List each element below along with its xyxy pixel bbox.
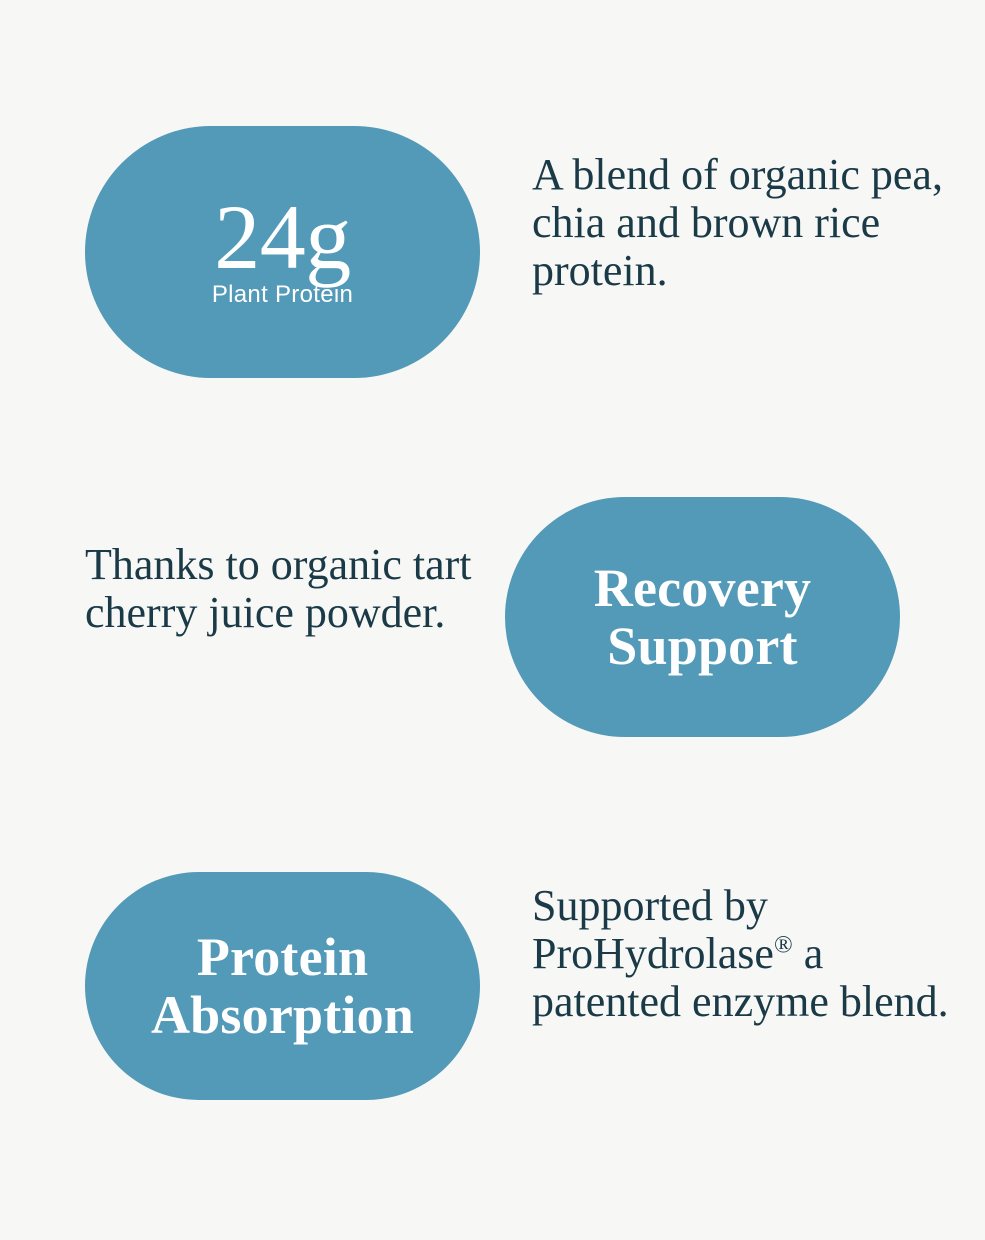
benefit-row-recovery-support: Thanks to organic tart cherry juice powd… — [0, 497, 985, 737]
pill-headline-label: Recovery Support — [505, 559, 900, 676]
registered-trademark-icon: ® — [774, 931, 793, 958]
benefit-copy-recovery-support: Thanks to organic tart cherry juice powd… — [85, 541, 505, 637]
pill-amount-value: 24g — [214, 195, 351, 280]
benefit-pill-protein-absorption: Protein Absorption — [85, 872, 480, 1100]
benefit-copy-prefix: Supported by ProHydrolase — [532, 881, 774, 978]
benefit-pill-recovery-support: Recovery Support — [505, 497, 900, 737]
benefit-copy-protein-absorption: Supported by ProHydrolase® a patented en… — [532, 882, 952, 1026]
benefit-row-protein-absorption: Protein Absorption Supported by ProHydro… — [0, 872, 985, 1100]
benefit-pill-plant-protein: 24g Plant Protein — [85, 126, 480, 378]
benefit-row-plant-protein: 24g Plant Protein A blend of organic pea… — [0, 126, 985, 378]
benefit-copy-plant-protein: A blend of organic pea, chia and brown r… — [532, 151, 952, 295]
pill-subtitle-label: Plant Protein — [212, 282, 353, 308]
benefits-grid: 24g Plant Protein A blend of organic pea… — [0, 0, 985, 1240]
pill-headline-label: Protein Absorption — [85, 928, 480, 1045]
